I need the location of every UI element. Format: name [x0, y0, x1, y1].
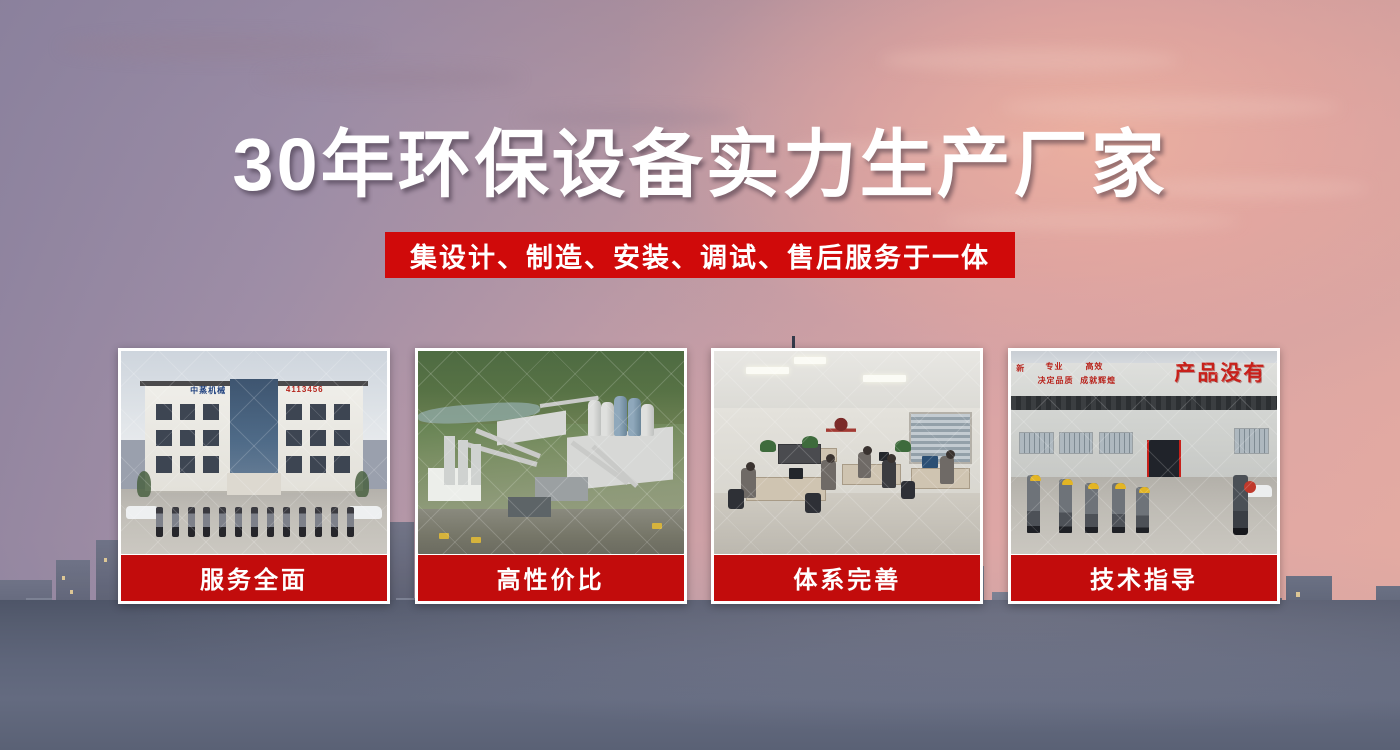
photo-watermark-mesh: [121, 351, 387, 554]
card-caption-bar: 体系完善: [714, 554, 980, 601]
river-reflection: [0, 600, 1400, 750]
card-caption-bar: 技术指导: [1011, 554, 1277, 601]
card-caption-bar: 高性价比: [418, 554, 684, 601]
subtitle-text: 集设计、制造、安装、调试、售后服务于一体: [410, 236, 990, 275]
cloud-shape: [260, 68, 520, 88]
photo-watermark-mesh: [418, 351, 684, 554]
feature-card[interactable]: 产品没有 新 专业 决定品质 高效 成就辉煌: [1008, 348, 1280, 604]
promotional-banner: 30年环保设备实力生产厂家 集设计、制造、安装、调试、售后服务于一体: [0, 0, 1400, 750]
card-caption-label: 高性价比: [497, 560, 605, 595]
card-caption-label: 体系完善: [793, 560, 901, 595]
photo-watermark-mesh: [1011, 351, 1277, 554]
company-headquarters-photo: 中蒸机械 4113456: [121, 351, 387, 554]
photo-watermark-mesh: [714, 351, 980, 554]
cloud-shape: [60, 34, 380, 60]
card-caption-bar: 服务全面: [121, 554, 387, 601]
cloud-shape: [940, 212, 1240, 230]
technical-training-photo: 产品没有 新 专业 决定品质 高效 成就辉煌: [1011, 351, 1277, 554]
feature-card-row: 中蒸机械 4113456: [118, 348, 1280, 604]
card-caption-label: 技术指导: [1090, 560, 1198, 595]
page-title: 30年环保设备实力生产厂家: [0, 128, 1400, 202]
feature-card[interactable]: 体系完善: [711, 348, 983, 604]
cloud-shape: [880, 48, 1180, 72]
feature-card[interactable]: 高性价比: [415, 348, 687, 604]
subtitle-banner: 集设计、制造、安装、调试、售后服务于一体: [385, 232, 1015, 278]
production-plant-aerial-photo: [418, 351, 684, 554]
feature-card[interactable]: 中蒸机械 4113456: [118, 348, 390, 604]
card-caption-label: 服务全面: [200, 560, 308, 595]
office-team-photo: [714, 351, 980, 554]
cloud-shape: [1000, 96, 1340, 118]
